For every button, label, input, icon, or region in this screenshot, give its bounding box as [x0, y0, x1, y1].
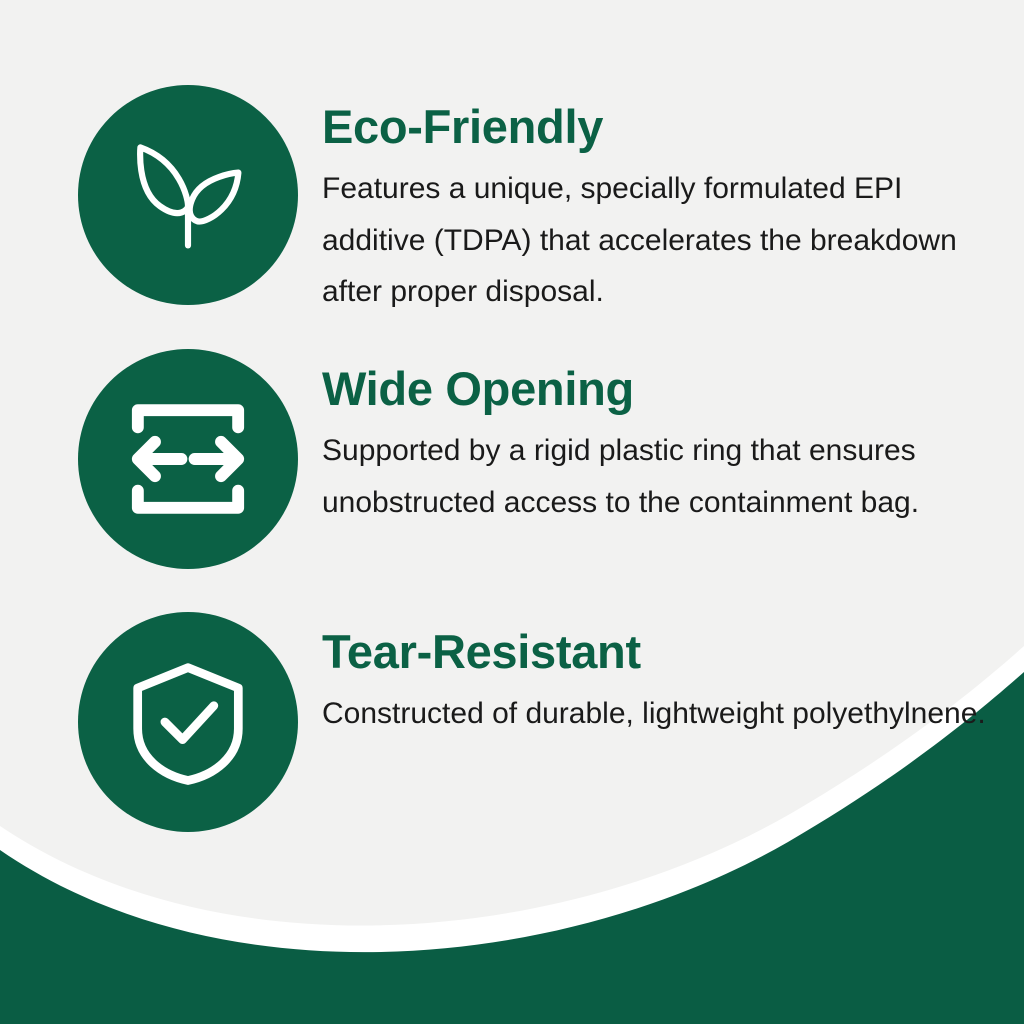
- feature-title: Tear-Resistant: [322, 628, 1022, 676]
- feature-title: Eco-Friendly: [322, 103, 1022, 151]
- feature-text-block: Eco-Friendly Features a unique, speciall…: [322, 85, 1022, 318]
- feature-item-tear-resistant: Tear-Resistant Constructed of durable, l…: [78, 612, 1022, 832]
- feature-title: Wide Opening: [322, 365, 1022, 413]
- feature-description: Constructed of durable, lightweight poly…: [322, 688, 992, 740]
- wide-opening-arrows-icon: [122, 393, 254, 525]
- feature-icon-badge: [78, 612, 298, 832]
- infographic-panel: Eco-Friendly Features a unique, speciall…: [0, 0, 1024, 1024]
- seedling-leaf-icon: [118, 125, 258, 265]
- feature-item-wide-opening: Wide Opening Supported by a rigid plasti…: [78, 349, 1022, 569]
- feature-text-block: Tear-Resistant Constructed of durable, l…: [322, 612, 1022, 740]
- feature-icon-badge: [78, 85, 298, 305]
- shield-check-icon: [120, 654, 256, 790]
- feature-description: Features a unique, specially formulated …: [322, 163, 992, 318]
- feature-description: Supported by a rigid plastic ring that e…: [322, 425, 992, 528]
- feature-icon-badge: [78, 349, 298, 569]
- feature-text-block: Wide Opening Supported by a rigid plasti…: [322, 349, 1022, 528]
- feature-item-eco-friendly: Eco-Friendly Features a unique, speciall…: [78, 85, 1022, 318]
